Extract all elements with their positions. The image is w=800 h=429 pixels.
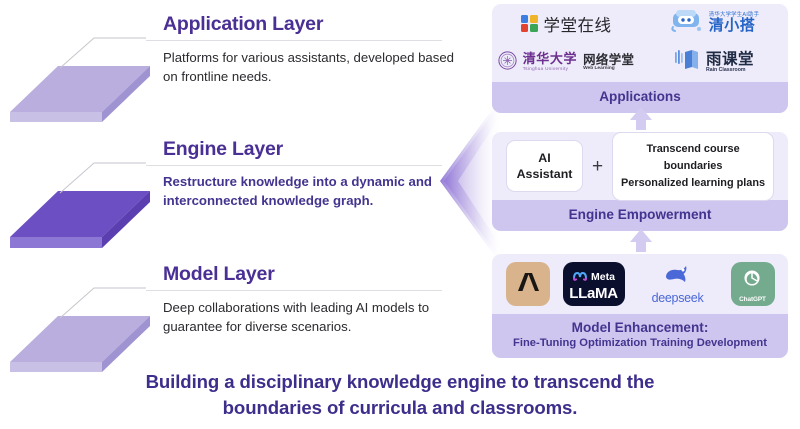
chatgpt-brand: ChatGPT	[739, 266, 766, 303]
engine-panel: AI Assistant + Transcend course boundari…	[492, 132, 788, 231]
meta-label: Meta	[591, 271, 615, 283]
infographic-canvas: Application Layer Platforms for various …	[0, 0, 800, 429]
model-footer-line2: Fine-Tuning Optimization Training Develo…	[492, 336, 788, 350]
engine-benefit-line2: Personalized learning plans	[619, 175, 767, 192]
plus-operator: +	[592, 157, 603, 176]
engine-layer-leader-line	[58, 153, 148, 195]
app-logo-xuetang-online[interactable]: 学堂在线	[492, 4, 640, 43]
model-logo-chatgpt[interactable]: ChatGPT	[731, 262, 775, 306]
engine-footer-label: Engine Empowerment	[569, 207, 712, 222]
engine-layer-title: Engine Layer	[163, 138, 283, 161]
engine-benefit-line1: Transcend course boundaries	[619, 141, 767, 175]
tsinghua-seal-icon	[498, 51, 517, 75]
xuetang-squares-icon	[521, 15, 538, 32]
applications-panel: 学堂在线 清华大学学生AI助手 清小	[492, 4, 788, 113]
ai-assistant-line1: AI	[509, 150, 580, 166]
ai-assistant-line2: Assistant	[509, 166, 580, 182]
model-logo-deepseek[interactable]: deepseek	[638, 262, 718, 306]
applications-footer-label: Applications	[599, 89, 681, 104]
rain-classroom-labels: 雨课堂 Rain Classroom	[706, 52, 754, 73]
deepseek-brand: deepseek	[652, 264, 704, 305]
deepseek-whale-icon	[663, 264, 693, 290]
engine-formula-row: AI Assistant + Transcend course boundari…	[492, 132, 788, 200]
rain-classroom-label-en: Rain Classroom	[706, 68, 754, 73]
model-layer-leader-line	[58, 278, 148, 320]
model-logo-row: Meta LLaMA deepseek	[492, 254, 788, 314]
engine-layer-divider	[146, 165, 442, 166]
qingxiaoda-robot-icon	[669, 8, 703, 39]
app-logo-rain-classroom[interactable]: 雨课堂 Rain Classroom	[640, 43, 788, 82]
model-layer-description: Deep collaborations with leading AI mode…	[163, 298, 463, 336]
tsinghua-label-en: Tsinghua University	[523, 67, 577, 72]
model-footer-line1: Model Enhancement:	[492, 319, 788, 336]
tsinghua-label-cn: 清华大学	[523, 53, 577, 67]
application-layer-leader-line	[58, 28, 148, 70]
xuetang-online-label: 学堂在线	[544, 12, 612, 36]
web-learning-label-cn: 网络学堂	[583, 53, 634, 66]
model-layer-title: Model Layer	[163, 263, 275, 286]
meta-brand-row: Meta	[572, 268, 615, 286]
model-logo-anthropic[interactable]	[506, 262, 550, 306]
application-layer-title: Application Layer	[163, 13, 323, 36]
caption-line-1: Building a disciplinary knowledge engine…	[0, 369, 800, 395]
llama-label: LLaMA	[569, 286, 618, 301]
application-layer-divider	[146, 40, 442, 41]
ai-assistant-chip[interactable]: AI Assistant	[506, 140, 583, 192]
model-footer: Model Enhancement: Fine-Tuning Optimizat…	[492, 314, 788, 358]
model-logo-meta-llama[interactable]: Meta LLaMA	[563, 262, 625, 306]
openai-knot-icon	[740, 266, 764, 295]
rain-classroom-label-cn: 雨课堂	[706, 52, 754, 68]
app-logo-qingxiaoda[interactable]: 清华大学学生AI助手 清小搭	[640, 4, 788, 43]
caption-line-2: boundaries of curricula and classrooms.	[0, 395, 800, 421]
app-logo-tsinghua-web-learning[interactable]: 清华大学 Tsinghua University 网络学堂 Web Learni…	[492, 43, 640, 82]
web-learning-label-en: Web Learning	[583, 66, 634, 71]
model-panel: Meta LLaMA deepseek	[492, 254, 788, 358]
qingxiaoda-labels: 清华大学学生AI助手 清小搭	[709, 13, 759, 34]
engine-layer-description: Restructure knowledge into a dynamic and…	[163, 172, 463, 210]
application-layer-description: Platforms for various assistants, develo…	[163, 48, 463, 86]
qingxiaoda-label: 清小搭	[709, 18, 759, 34]
web-learning-labels: 网络学堂 Web Learning	[583, 53, 634, 71]
model-layer-divider	[146, 290, 442, 291]
anthropic-icon	[515, 270, 541, 299]
rain-classroom-book-icon	[674, 48, 700, 77]
engine-benefits-chip[interactable]: Transcend course boundaries Personalized…	[612, 132, 774, 201]
bottom-caption: Building a disciplinary knowledge engine…	[0, 369, 800, 422]
applications-logo-grid: 学堂在线 清华大学学生AI助手 清小	[492, 4, 788, 82]
tsinghua-labels: 清华大学 Tsinghua University	[523, 53, 577, 71]
meta-infinity-icon	[572, 268, 588, 286]
deepseek-label: deepseek	[652, 291, 704, 305]
chatgpt-label: ChatGPT	[739, 296, 766, 303]
